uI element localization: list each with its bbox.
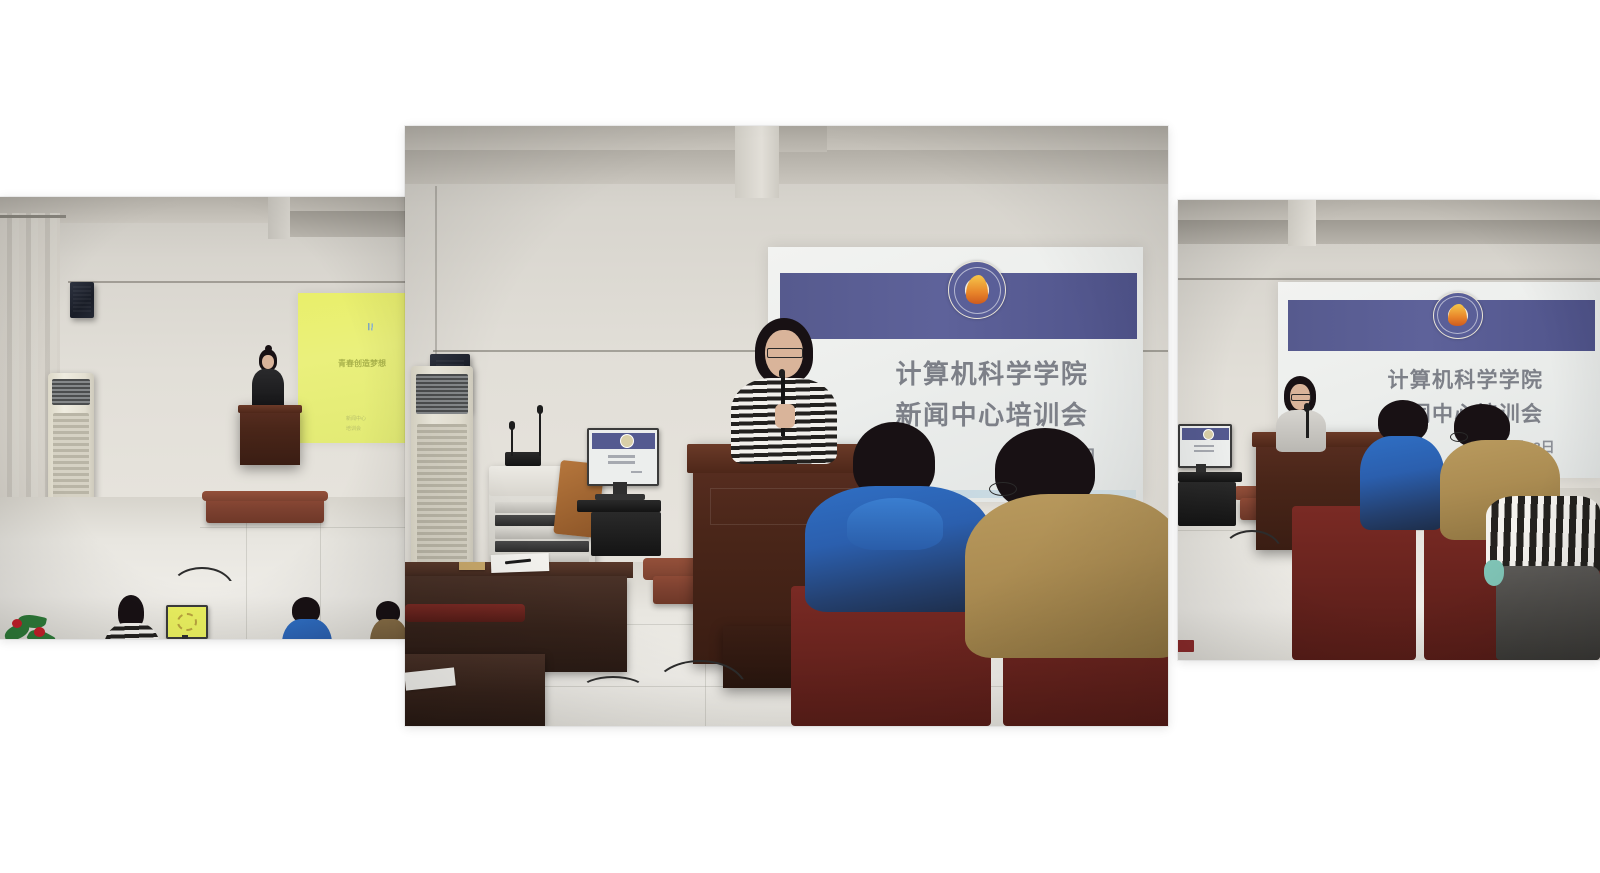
wall-speaker-left (70, 282, 94, 318)
attendee-blue-center (805, 422, 991, 612)
monitor-slide-right (1180, 426, 1230, 466)
ceiling-column-center-2 (779, 126, 827, 152)
notebook-center (459, 562, 485, 570)
chair-center-left (405, 604, 525, 622)
attendee-back-left (370, 601, 408, 639)
right-photo: 计算机科学学院 新闻中心培训会 9月23日 (1178, 200, 1600, 660)
student-torso-left (103, 623, 161, 639)
wall-corner-center (435, 186, 437, 354)
monitor-left (166, 605, 208, 639)
av-shelf-center (577, 500, 661, 512)
speaker-glasses-center (767, 348, 803, 358)
attendee-torso-back-left (370, 619, 408, 639)
monitor-screen-left (168, 607, 206, 637)
monitor-text-date-center (631, 471, 642, 473)
ceiling-column-right (1288, 200, 1316, 246)
stage-top-left (202, 491, 328, 501)
ceiling-soffit-center (405, 150, 1168, 184)
center-photo: 计算机科学学院 新闻中心培训会 9月23日 (405, 126, 1168, 726)
ceiling-soffit-right (1178, 220, 1600, 244)
monitor-screen-center (589, 430, 657, 484)
slide-subtext1-left: 新闻中心 (346, 415, 366, 422)
wall-cable-line-left (68, 281, 408, 283)
speaker-right (1270, 376, 1330, 448)
slide-line1-right: 计算机科学学院 (1387, 364, 1543, 394)
speaker-torso-right (1276, 410, 1326, 452)
ac-grill-left (52, 379, 91, 405)
flower-bud-2 (34, 627, 45, 637)
attendee-khaki-glasses-right (1450, 432, 1468, 442)
attendee-striped-lower-right (1496, 566, 1600, 660)
ac-grill-center (416, 374, 468, 414)
floor-tile-line-left-1 (200, 527, 408, 528)
school-seal-right (1433, 292, 1483, 339)
gooseneck-mic-2-center (511, 426, 513, 456)
red-book-right (1178, 640, 1194, 652)
seal-flame-icon-center (966, 275, 989, 303)
monitor-yellow-slide-left (168, 607, 206, 637)
flower-bud-1 (12, 619, 22, 628)
monitor-text-line1-right (1194, 445, 1214, 447)
monitor-text-line2-right (1194, 450, 1214, 452)
attendee-blue-torso-right (1360, 436, 1444, 530)
monitor-slide-center (589, 430, 657, 484)
projection-screen-left: 青春创造梦想 新闻中心 培训会 (298, 293, 408, 443)
left-photo: 青春创造梦想 新闻中心 培训会 (0, 197, 408, 639)
monitor-ring-left (177, 613, 197, 631)
podium-left (240, 405, 300, 465)
school-seal-center (948, 261, 1006, 319)
av-shelf-right (1178, 472, 1242, 482)
floor-cable-center-2 (581, 676, 645, 702)
microphone-right (1306, 408, 1309, 438)
gooseneck-mic-center (539, 410, 541, 456)
attendee-khaki-torso-center (965, 494, 1168, 658)
teal-cup-right (1484, 560, 1504, 586)
rack-unit-4 (495, 541, 588, 552)
attendee-torso-mid-left (282, 619, 332, 639)
curtain-rail-left (0, 215, 66, 218)
ceiling-column-center (735, 126, 779, 198)
desk-front-center (405, 654, 545, 726)
attendee-khaki-glasses-center (989, 482, 1017, 496)
ac-vent-left (53, 413, 90, 499)
attendee-mid-left (280, 597, 334, 639)
attendee-khaki-center (965, 428, 1168, 658)
student-striped-left (100, 595, 162, 639)
image-canvas: 青春创造梦想 新闻中心 培训会 (0, 0, 1600, 873)
papers-center (491, 553, 550, 573)
monitor-center (587, 428, 659, 486)
slide-center-text-left: 青春创造梦想 (338, 358, 386, 369)
slide-line1-center: 计算机科学学院 (896, 354, 1089, 391)
wall-cable-line-right (1178, 278, 1600, 280)
attendee-blue-right (1360, 400, 1444, 530)
flower-arrangement-left (0, 607, 66, 639)
monitor-text-line1-center (608, 455, 635, 458)
av-equipment-right (1178, 482, 1236, 526)
podium-top-left (238, 405, 302, 413)
monitor-screen-right (1180, 426, 1230, 466)
monitor-right (1178, 424, 1232, 468)
monitor-text-line2-center (608, 461, 635, 464)
slide-subtext2-left: 培训会 (346, 425, 361, 432)
speaker-face-left (262, 355, 274, 369)
av-amp-center (591, 512, 661, 556)
speaker-glasses-right (1291, 394, 1311, 401)
ceiling-return-left (268, 197, 290, 239)
attendee-striped-torso-right (1486, 496, 1600, 574)
ac-vent-center (417, 424, 467, 572)
monitor-stand-left (182, 635, 188, 639)
